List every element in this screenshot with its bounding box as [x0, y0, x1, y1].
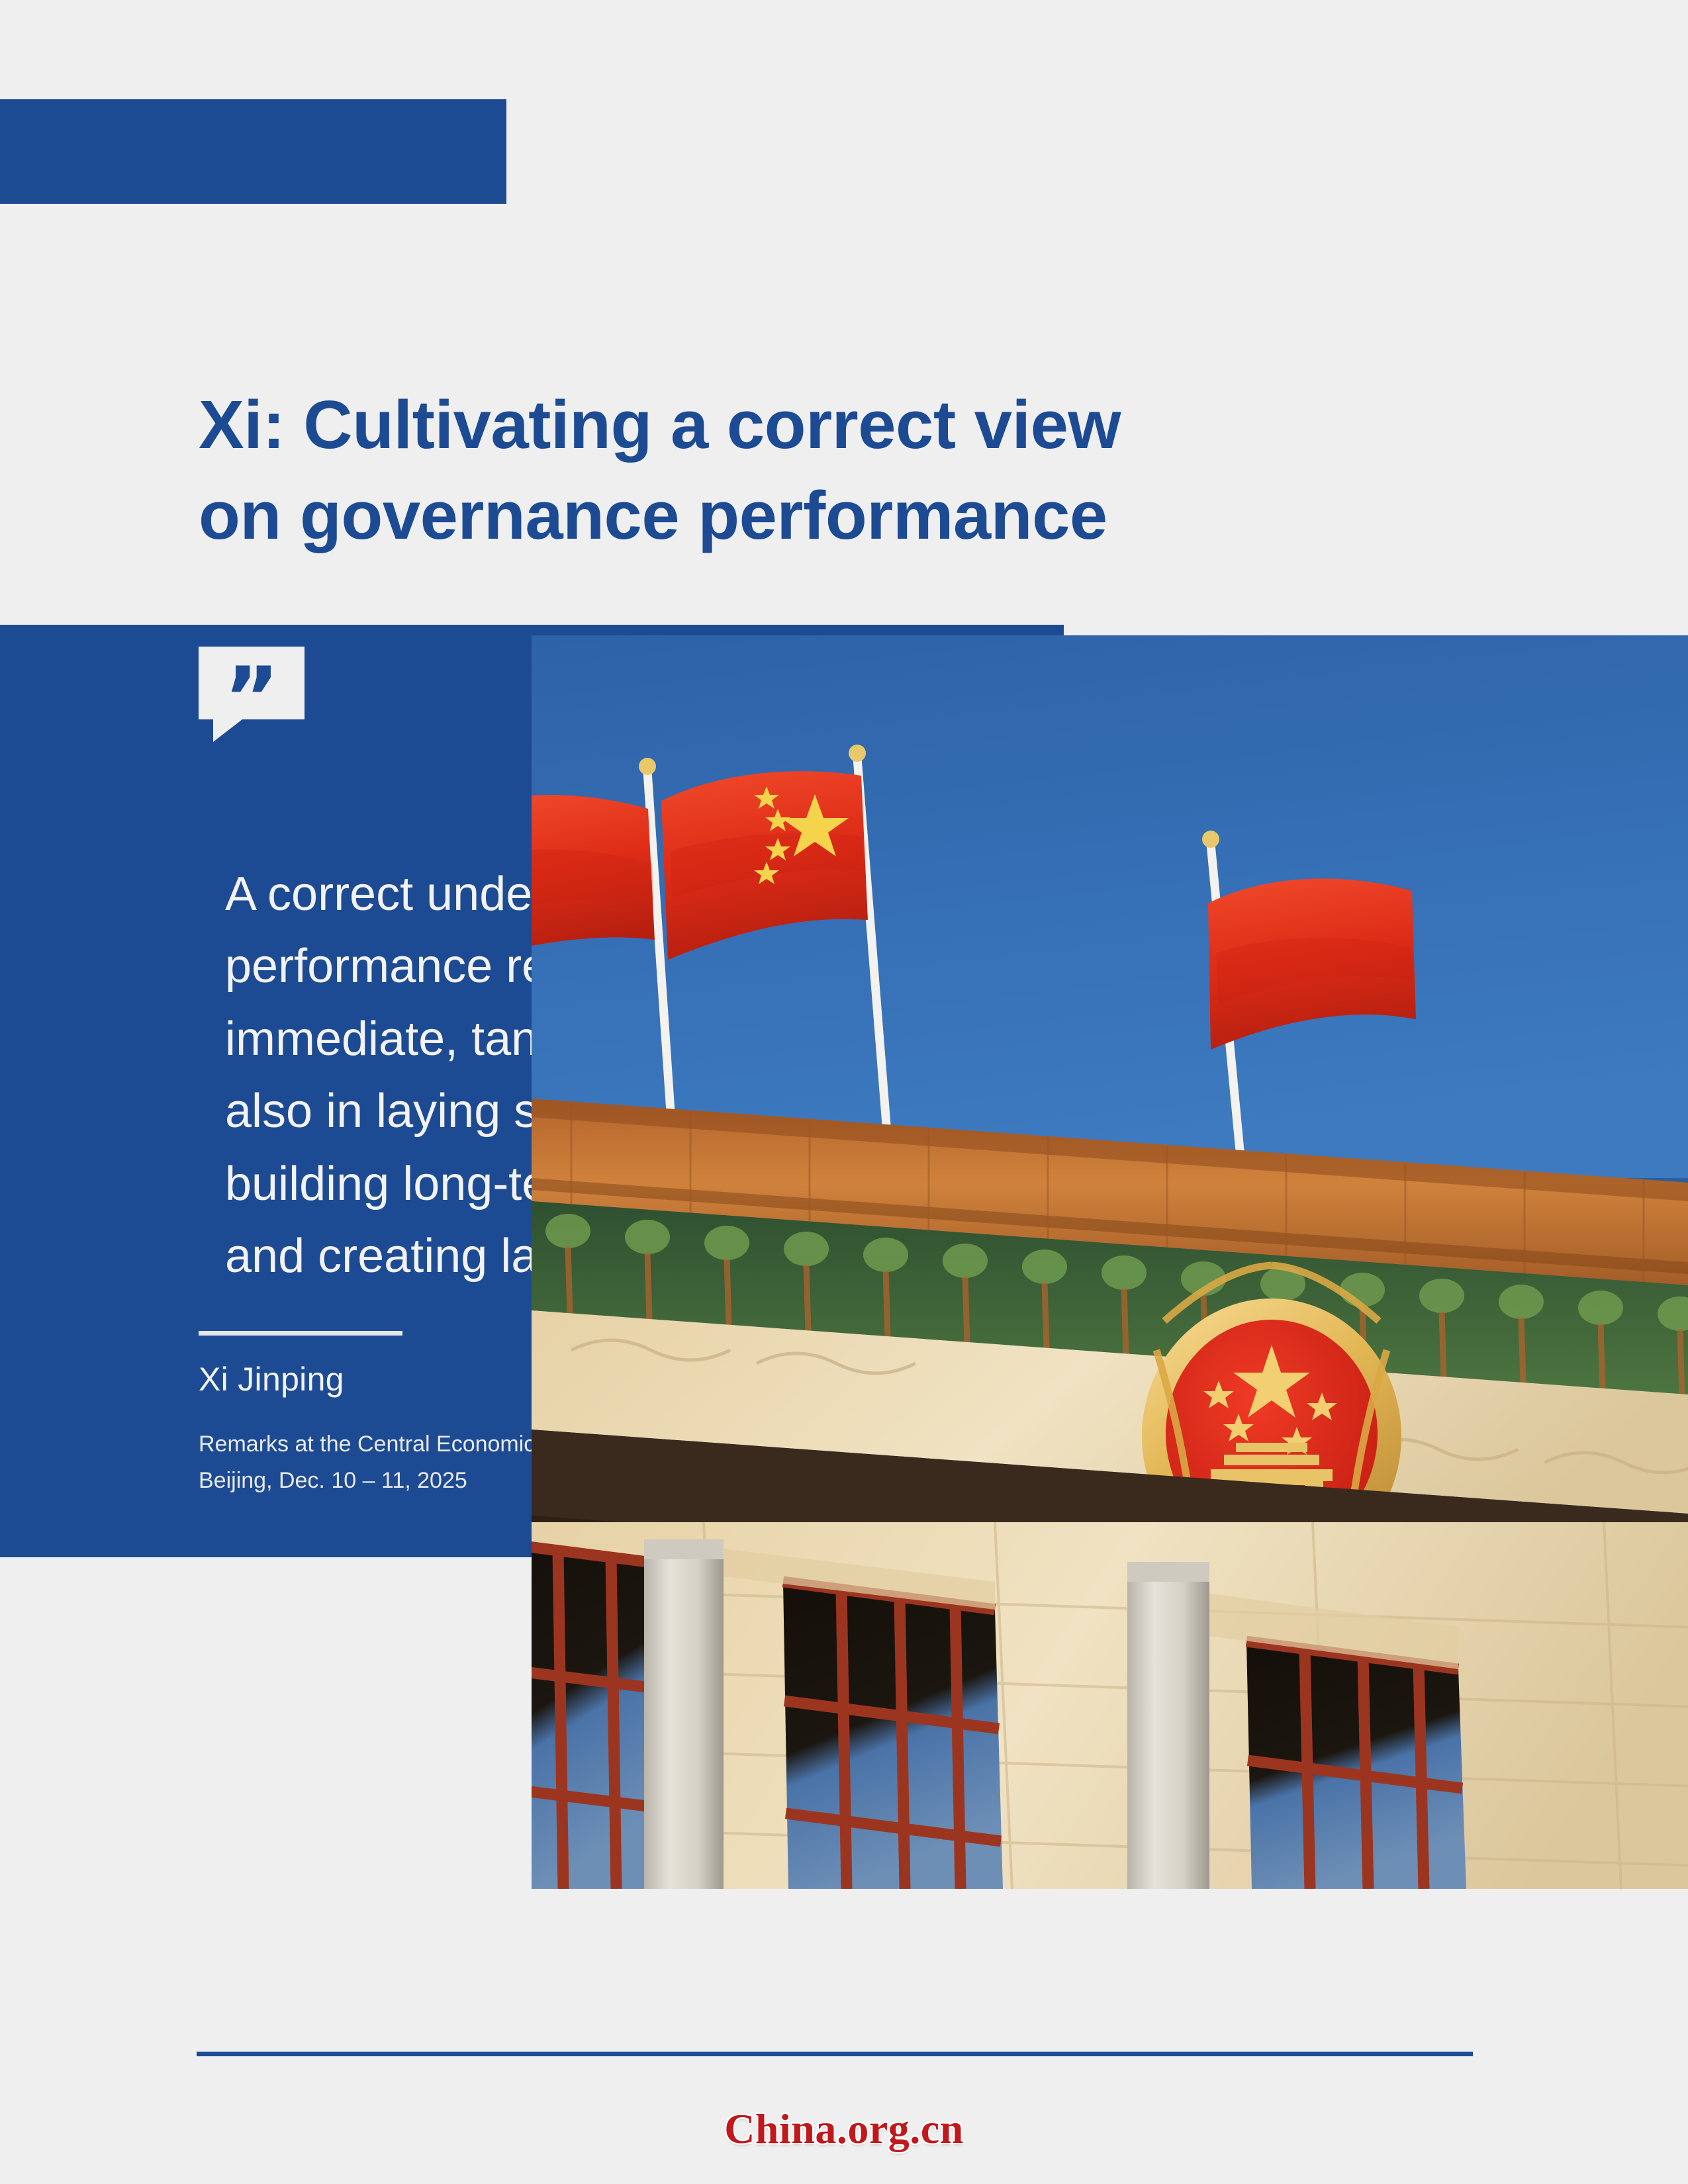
china-org-cn-logo[interactable]: China.org.cn	[0, 2105, 1688, 2154]
quote-glyph: ”	[199, 647, 305, 719]
quote-marks-icon: ”	[199, 647, 305, 733]
page-title: Xi: Cultivating a correct view on govern…	[199, 380, 1357, 561]
page-title-line-2: on governance performance	[199, 471, 1357, 561]
photo-illustration	[532, 635, 1688, 1889]
footer-divider	[197, 2052, 1473, 2056]
attribution-divider	[199, 1331, 402, 1336]
top-accent-block	[0, 99, 506, 204]
attribution-name: Xi Jinping	[199, 1360, 344, 1398]
poster-page: Xi: Cultivating a correct view on govern…	[0, 0, 1688, 2184]
great-hall-photo	[532, 635, 1688, 1889]
page-title-line-1: Xi: Cultivating a correct view	[199, 380, 1357, 471]
speech-bubble-tail	[213, 719, 242, 742]
